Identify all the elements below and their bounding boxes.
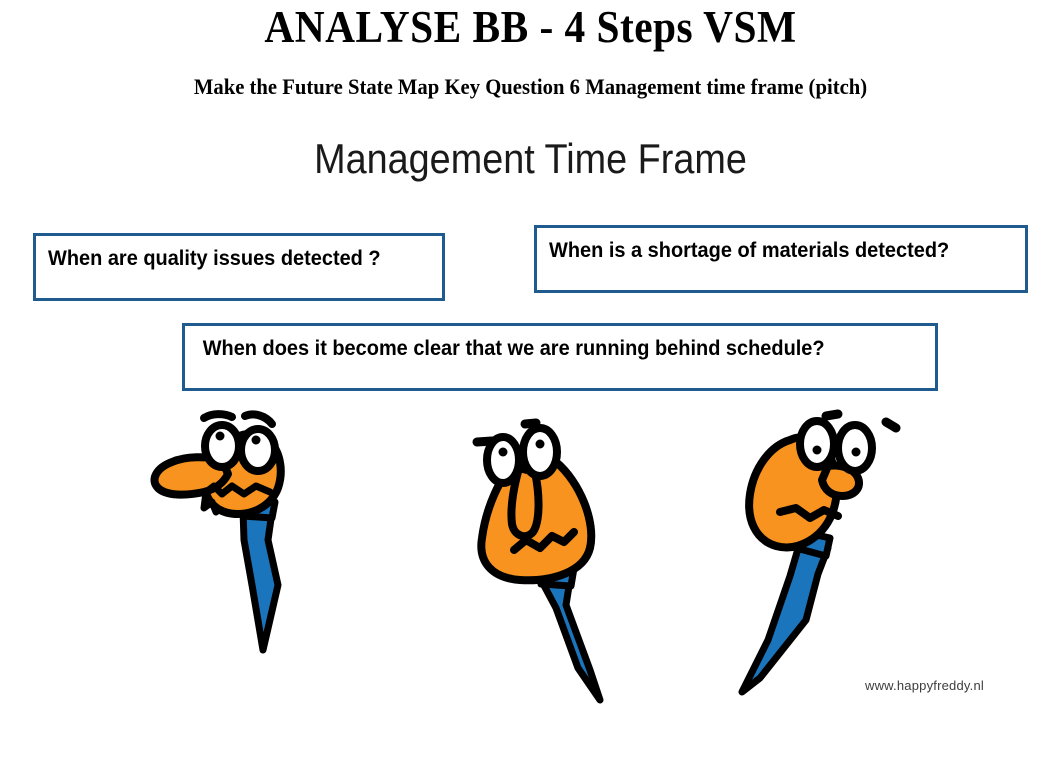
character-right-icon <box>742 414 896 692</box>
page-title: ANALYSE BB - 4 Steps VSM <box>42 2 1018 52</box>
character-left-pupil-right <box>252 436 261 445</box>
question-box-behind-schedule-label: When does it become clear that we are ru… <box>197 336 887 362</box>
character-right-pupil-left <box>813 446 822 455</box>
character-left-eyebrow-right <box>245 414 272 424</box>
character-right-tie <box>742 542 828 692</box>
character-right-eyebrow-right <box>886 422 896 428</box>
character-center-pupil-right <box>536 440 545 449</box>
character-center-pupil-left <box>499 448 508 457</box>
character-right-pupil-right <box>852 448 861 457</box>
character-right-eye-left <box>800 421 834 467</box>
question-box-behind-schedule[interactable]: When does it become clear that we are ru… <box>182 323 938 391</box>
question-box-quality-issues-label: When are quality issues detected ? <box>48 246 411 272</box>
character-left-eye-right <box>241 429 275 471</box>
character-left-eyebrow-left <box>204 414 232 418</box>
character-center-eyebrow-right <box>525 423 536 424</box>
slide-canvas: ANALYSE BB - 4 Steps VSM Make the Future… <box>0 0 1061 763</box>
character-right-eyebrow-left <box>826 414 838 416</box>
question-box-material-shortage[interactable]: When is a shortage of materials detected… <box>534 225 1028 293</box>
character-illustration-group <box>0 400 1061 720</box>
question-box-quality-issues[interactable]: When are quality issues detected ? <box>33 233 445 301</box>
section-heading: Management Time Frame <box>53 134 1008 184</box>
character-left-eye-left <box>205 425 239 467</box>
page-subtitle: Make the Future State Map Key Question 6… <box>32 74 1029 100</box>
character-left-tie <box>243 510 278 650</box>
characters-svg <box>0 400 1061 720</box>
character-center-icon <box>477 423 600 700</box>
character-center-eyebrow-left <box>477 441 492 442</box>
character-left-pupil-left <box>216 432 225 441</box>
character-center-tie <box>540 578 600 700</box>
character-left-icon <box>154 414 280 650</box>
watermark-url: www.happyfreddy.nl <box>865 678 984 693</box>
character-center-eye-right <box>523 428 557 476</box>
question-box-material-shortage-label: When is a shortage of materials detected… <box>549 238 990 264</box>
